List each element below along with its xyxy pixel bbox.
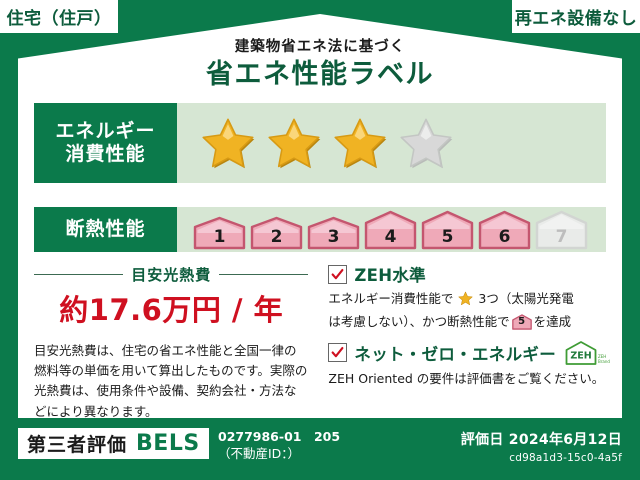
footer-bar: 第三者評価 BELS 0277986-01 205 （不動産ID：） 評価日 2… [0, 418, 640, 480]
zeh-body-text-part2: は考慮しない）、かつ断熱性能で [328, 314, 509, 329]
energy-performance-row: エネルギー 消費性能 [34, 103, 606, 183]
insulation-grade-label: 5 [421, 227, 474, 247]
page-title: 省エネ性能ラベル [0, 59, 640, 90]
badge-building-type: 住宅（住戸） [0, 0, 118, 33]
star-filled-icon [201, 116, 255, 170]
insulation-grade-6: 6 [478, 210, 531, 250]
insulation-grade-label: 1 [193, 227, 246, 247]
check-block-net-zero-energy: ネット・ゼロ・エネルギー ZEH ZEH Brand ZEH Oriented … [328, 340, 612, 389]
utility-cost-heading: 目安光熱費 [34, 264, 308, 285]
checkbox-checked-icon [328, 343, 347, 362]
zeh-body-text-part3: を達成 [534, 314, 572, 329]
bels-certificate-number: 0277986-01 205 [218, 429, 340, 446]
energy-performance-tag: エネルギー 消費性能 [34, 103, 177, 183]
inline-star-icon [454, 294, 477, 309]
insulation-grade-label: 2 [250, 227, 303, 247]
header-subtitle: 建築物省エネ法に基づく [0, 40, 640, 56]
star-filled-icon [333, 116, 387, 170]
inline-house-grade-label: 5 [512, 314, 532, 330]
bels-brand: BELS [136, 431, 200, 456]
insulation-grade-label: 7 [535, 227, 588, 247]
energy-tag-line1: エネルギー [55, 120, 155, 143]
star-filled-icon [267, 116, 321, 170]
star-empty-icon [399, 116, 453, 170]
utility-cost-heading-label: 目安光熱費 [131, 264, 211, 285]
badge-renewable-equipment: 再エネ設備なし [512, 0, 640, 33]
energy-tag-line2: 消費性能 [65, 143, 145, 166]
check-block-zeh-standard: ZEH水準 エネルギー消費性能で 3つ（太陽光発電 は考慮しない）、かつ断熱性能… [328, 262, 612, 333]
insulation-tag-label: 断熱性能 [65, 218, 145, 241]
bels-label: 第三者評価 [27, 430, 127, 457]
evaluation-hash: cd98a1d3-15c0-4a5f [461, 452, 622, 464]
heading-rule-left [34, 274, 123, 275]
inline-house-grade-icon: 5 [512, 314, 532, 330]
zeh-body-text-star-count: 3つ（太陽光発電 [478, 291, 573, 306]
heading-rule-right [219, 274, 308, 275]
insulation-grade-scale: 1234567 [193, 210, 588, 250]
star-rating [201, 116, 453, 170]
net-zero-energy-body: ZEH Oriented の要件は評価書をご覧ください。 [328, 369, 612, 389]
svg-text:ZEH: ZEH [570, 350, 591, 361]
insulation-grade-4: 4 [364, 210, 417, 250]
bels-badge: 第三者評価 BELS [18, 428, 209, 459]
insulation-performance-body: 1234567 [177, 207, 606, 252]
insulation-performance-row: 断熱性能 1234567 [34, 207, 606, 252]
checkbox-checked-icon [328, 265, 347, 284]
net-zero-energy-title: ネット・ゼロ・エネルギー [354, 341, 556, 365]
insulation-grade-2: 2 [250, 216, 303, 250]
insulation-grade-1: 1 [193, 216, 246, 250]
insulation-performance-tag: 断熱性能 [34, 207, 177, 252]
evaluation-info: 評価日 2024年6月12日 cd98a1d3-15c0-4a5f [461, 429, 622, 464]
energy-performance-body [177, 103, 606, 183]
zeh-body-text-part1: エネルギー消費性能で [328, 291, 453, 306]
net-zero-energy-head: ネット・ゼロ・エネルギー ZEH ZEH Brand [328, 340, 612, 366]
utility-cost-note: 目安光熱費は、住宅の省エネ性能と全国一律の燃料等の単価を用いて算出したものです。… [34, 341, 308, 422]
zeh-standard-head: ZEH水準 [328, 262, 612, 286]
evaluation-date: 評価日 2024年6月12日 [461, 429, 622, 449]
insulation-grade-label: 4 [364, 227, 417, 247]
zeh-standard-body: エネルギー消費性能で 3つ（太陽光発電 は考慮しない）、かつ断熱性能で 5 を達… [328, 289, 612, 333]
insulation-grade-5: 5 [421, 210, 474, 250]
insulation-grade-3: 3 [307, 216, 360, 250]
utility-cost-value: 約17.6万円 / 年 [34, 295, 308, 327]
energy-performance-label: 住宅（住戸） 再エネ設備なし 建築物省エネ法に基づく 省エネ性能ラベル エネルギ… [0, 0, 640, 480]
zeh-logo-icon: ZEH ZEH Brand [564, 340, 612, 366]
insulation-grade-label: 3 [307, 227, 360, 247]
insulation-grade-7: 7 [535, 210, 588, 250]
header: 建築物省エネ法に基づく 省エネ性能ラベル [0, 40, 640, 90]
criteria-column: ZEH水準 エネルギー消費性能で 3つ（太陽光発電 は考慮しない）、かつ断熱性能… [316, 262, 612, 412]
lower-section: 目安光熱費 約17.6万円 / 年 目安光熱費は、住宅の省エネ性能と全国一律の燃… [34, 262, 612, 412]
svg-text:Brand: Brand [598, 359, 610, 364]
bels-id-block: 0277986-01 205 （不動産ID：） [218, 429, 340, 463]
bels-property-id: （不動産ID：） [218, 446, 340, 463]
utility-cost-column: 目安光熱費 約17.6万円 / 年 目安光熱費は、住宅の省エネ性能と全国一律の燃… [34, 262, 316, 412]
zeh-standard-title: ZEH水準 [354, 262, 426, 286]
insulation-grade-label: 6 [478, 227, 531, 247]
